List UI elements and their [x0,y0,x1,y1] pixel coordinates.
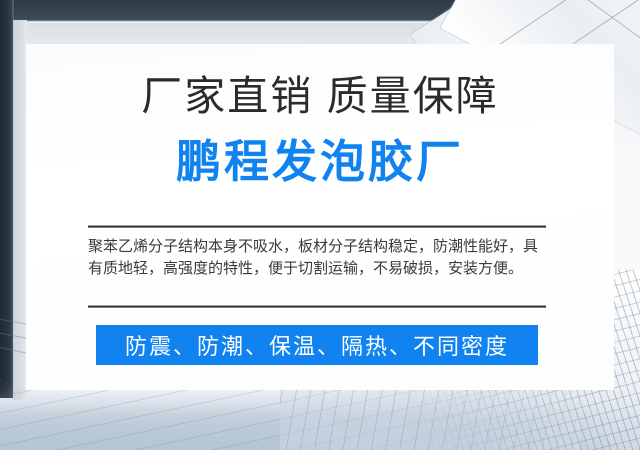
background-left-dark-spine [0,0,14,398]
divider-top [88,225,546,228]
content-card: 厂家直销 质量保障 鹏程发泡胶厂 聚苯乙烯分子结构本身不吸水，板材分子结构稳定，… [26,44,614,390]
product-description: 聚苯乙烯分子结构本身不吸水，板材分子结构稳定，防潮性能好，具有质地轻，高强度的特… [88,236,550,280]
features-badge-label: 防震、防潮、保温、隔热、不同密度 [125,329,509,361]
page-title: 厂家直销 质量保障 [26,76,614,117]
promotional-banner: 厂家直销 质量保障 鹏程发泡胶厂 聚苯乙烯分子结构本身不吸水，板材分子结构稳定，… [0,0,640,450]
features-badge: 防震、防潮、保温、隔热、不同密度 [96,325,538,365]
brand-name: 鹏程发泡胶厂 [26,140,614,185]
divider-bottom [88,305,546,308]
background-left-gray-band [13,20,27,400]
